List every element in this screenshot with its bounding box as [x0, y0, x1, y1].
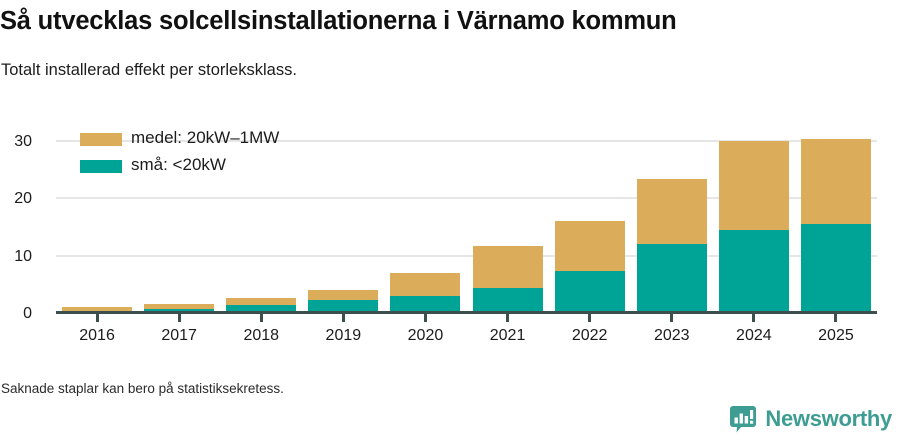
newsworthy-logo[interactable]: Newsworthy: [730, 404, 892, 434]
bar-segment-medium[interactable]: [144, 304, 214, 309]
x-axis-tick-mark: [178, 314, 181, 322]
legend-label-small: små: <20kW: [131, 154, 226, 176]
bar-segment-medium[interactable]: [226, 298, 296, 305]
y-axis-tick-label: 20: [0, 191, 32, 207]
x-axis-tick-mark: [752, 314, 755, 322]
chart-note: Saknade staplar kan bero på statistiksek…: [1, 380, 284, 397]
x-axis-tick-mark: [96, 314, 99, 322]
x-axis-tick-label: 2017: [139, 327, 219, 345]
x-axis-tick-label: 2022: [550, 327, 630, 345]
y-axis-tick-label: 30: [0, 134, 32, 150]
brand-wordmark: Newsworthy: [765, 407, 892, 431]
bar-segment-small[interactable]: [719, 230, 789, 314]
x-axis-tick-label: 2018: [221, 327, 301, 345]
x-axis-tick-mark: [260, 314, 263, 322]
chart-subtitle: Totalt installerad effekt per storlekskl…: [1, 60, 881, 80]
x-axis-tick-mark: [342, 314, 345, 322]
legend-swatch-small: [80, 160, 122, 173]
bar-segment-small[interactable]: [637, 244, 707, 314]
bar-segment-small[interactable]: [801, 224, 871, 314]
bar-segment-medium[interactable]: [637, 179, 707, 244]
x-axis-tick-mark: [588, 314, 591, 322]
bar-stack[interactable]: [637, 179, 707, 314]
bar-segment-medium[interactable]: [473, 246, 543, 288]
bar-segment-medium[interactable]: [555, 221, 625, 271]
bar-segment-medium[interactable]: [719, 141, 789, 230]
x-axis-tick-label: 2016: [57, 327, 137, 345]
axis-baseline: [56, 311, 877, 314]
bar-segment-medium[interactable]: [390, 273, 460, 295]
x-axis-tick-label: 2023: [632, 327, 712, 345]
bar-stack[interactable]: [801, 139, 871, 314]
y-axis-tick-label: 0: [0, 306, 32, 322]
bar-segment-medium[interactable]: [62, 307, 132, 311]
page-title: Så utvecklas solcellsinstallationerna i …: [0, 6, 880, 36]
bar-segment-small[interactable]: [555, 271, 625, 314]
x-axis-tick-mark: [424, 314, 427, 322]
x-axis-tick-label: 2020: [385, 327, 465, 345]
bar-stack[interactable]: [555, 221, 625, 314]
legend-swatch-medium: [80, 133, 122, 146]
x-axis-tick-label: 2019: [303, 327, 383, 345]
x-axis-tick-label: 2021: [468, 327, 548, 345]
x-axis-tick-mark: [834, 314, 837, 322]
newsworthy-bubble-chart-icon: [730, 406, 756, 433]
chart-container: Så utvecklas solcellsinstallationerna i …: [0, 0, 900, 439]
legend-label-medium: medel: 20kW–1MW: [131, 127, 279, 149]
bar-stack[interactable]: [473, 246, 543, 314]
bar-segment-medium[interactable]: [801, 139, 871, 224]
y-axis-tick-label: 10: [0, 249, 32, 265]
x-axis-tick-mark: [670, 314, 673, 322]
x-axis-tick-label: 2024: [714, 327, 794, 345]
x-axis-tick-label: 2025: [796, 327, 876, 345]
bar-stack[interactable]: [719, 141, 789, 314]
bar-stack[interactable]: [390, 273, 460, 314]
x-axis-tick-mark: [506, 314, 509, 322]
bar-segment-medium[interactable]: [308, 290, 378, 300]
